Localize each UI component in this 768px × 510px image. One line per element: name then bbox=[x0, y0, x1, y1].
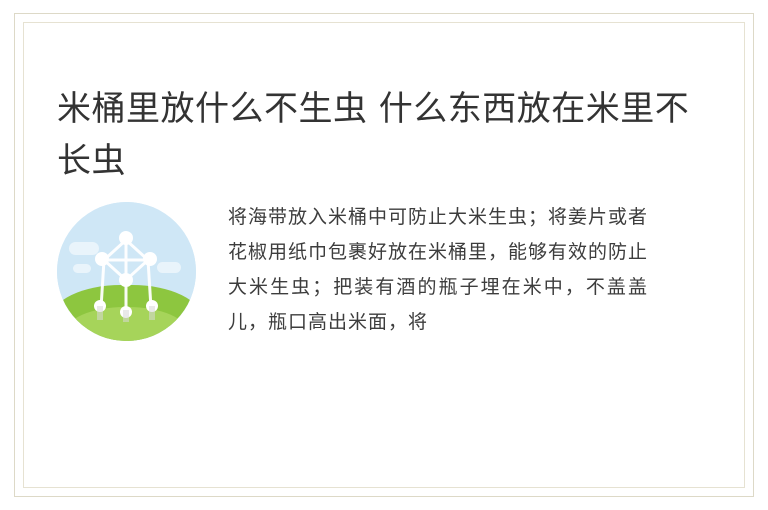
page-title: 米桶里放什么不生虫 什么东西放在米里不长虫 bbox=[57, 83, 697, 187]
article-thumbnail bbox=[57, 202, 196, 341]
atomium-icon bbox=[57, 202, 196, 341]
article-body-text: 将海带放入米桶中可防止大米生虫；将姜片或者花椒用纸巾包裹好放在米桶里，能够有效的… bbox=[228, 200, 648, 340]
article-body-row: 将海带放入米桶中可防止大米生虫；将姜片或者花椒用纸巾包裹好放在米桶里，能够有效的… bbox=[57, 200, 713, 341]
article-card: 米桶里放什么不生虫 什么东西放在米里不长虫 bbox=[14, 13, 754, 497]
